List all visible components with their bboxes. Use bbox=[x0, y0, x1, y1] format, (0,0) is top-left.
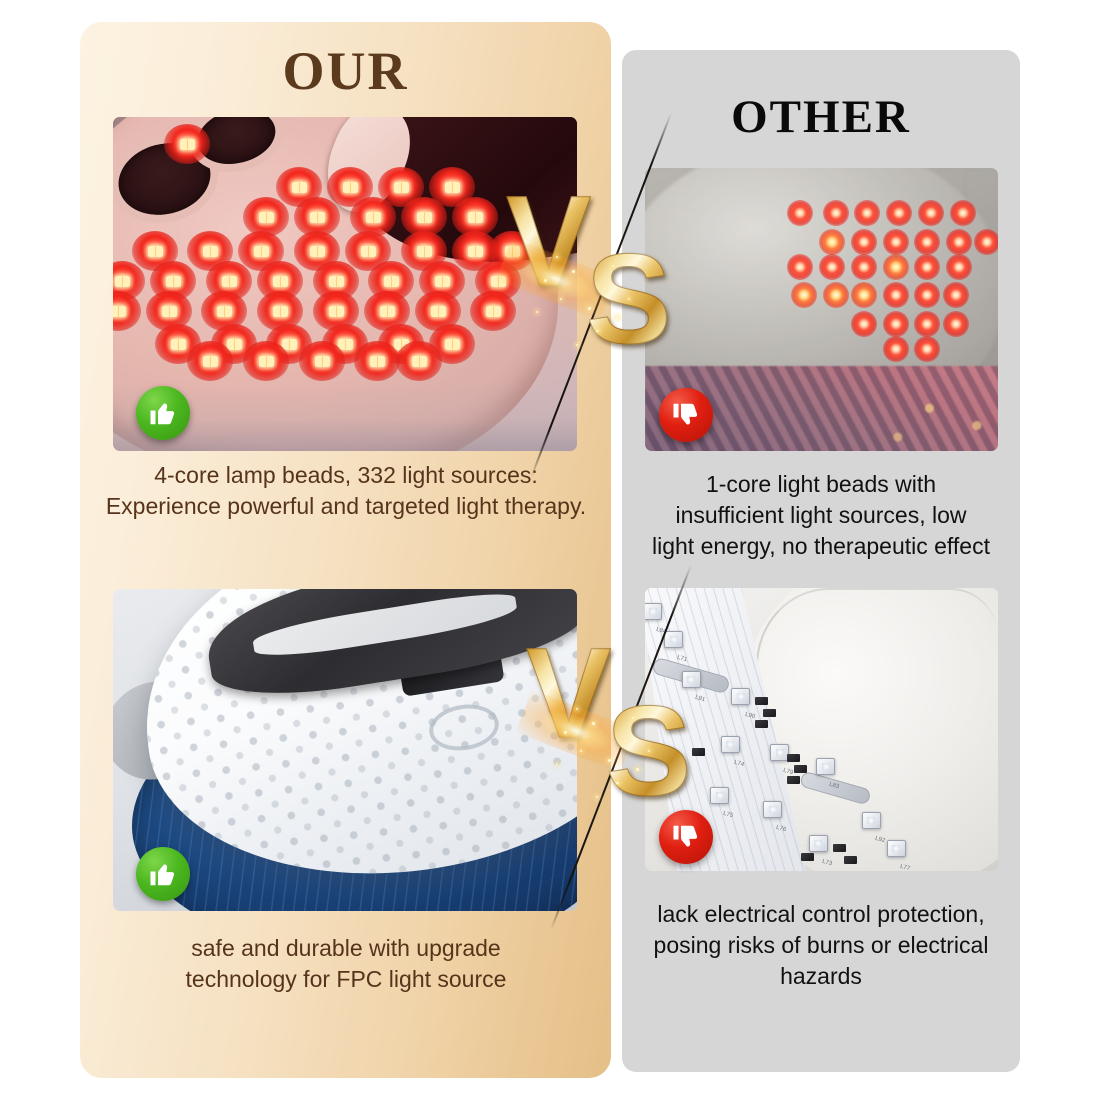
sparkle-icon bbox=[616, 782, 619, 785]
led-dot bbox=[851, 229, 877, 255]
caption-line: lack electrical control protection, bbox=[634, 899, 1008, 930]
our-caption-1: 4-core lamp beads, 332 light sources: Ex… bbox=[86, 460, 606, 522]
led-dot bbox=[791, 282, 817, 308]
smd-resistor bbox=[755, 720, 768, 728]
led-dot bbox=[819, 254, 845, 280]
caption-line: hazards bbox=[634, 961, 1008, 992]
led-bead bbox=[187, 341, 233, 381]
surface-mount-led bbox=[763, 801, 782, 818]
led-bead bbox=[113, 291, 141, 331]
surface-mount-led bbox=[682, 671, 701, 688]
other-caption-1: 1-core light beads with insufficient lig… bbox=[634, 469, 1008, 562]
sparkle-icon bbox=[616, 316, 619, 319]
led-bead bbox=[396, 341, 442, 381]
surface-mount-led bbox=[862, 812, 881, 829]
led-dot bbox=[851, 254, 877, 280]
led-dot bbox=[918, 200, 944, 226]
thumbs-down-icon bbox=[659, 810, 713, 864]
led-dot bbox=[914, 254, 940, 280]
led-dot bbox=[914, 311, 940, 337]
smd-resistor bbox=[763, 709, 776, 717]
led-dot bbox=[950, 200, 976, 226]
led-dot bbox=[914, 282, 940, 308]
led-bead bbox=[470, 291, 516, 331]
smd-resistor bbox=[692, 748, 705, 756]
caption-line: 1-core light beads with bbox=[634, 469, 1008, 500]
led-bead bbox=[354, 341, 400, 381]
thumbs-down-icon bbox=[659, 388, 713, 442]
led-dot bbox=[943, 311, 969, 337]
caption-line: 4-core lamp beads, 332 light sources: bbox=[86, 460, 606, 491]
other-caption-2: lack electrical control protection, posi… bbox=[634, 899, 1008, 992]
led-bead bbox=[299, 341, 345, 381]
led-dot bbox=[819, 229, 845, 255]
surface-mount-led bbox=[721, 736, 740, 753]
smd-resistor bbox=[801, 853, 814, 861]
led-bead bbox=[164, 124, 210, 164]
thumbs-up-icon bbox=[136, 386, 190, 440]
other-panel-title: OTHER bbox=[622, 90, 1020, 144]
led-dot bbox=[854, 200, 880, 226]
surface-mount-led bbox=[816, 758, 835, 775]
smd-resistor bbox=[794, 765, 807, 773]
sparkle-icon bbox=[612, 265, 614, 267]
smd-resistor bbox=[833, 844, 846, 852]
led-dot bbox=[946, 254, 972, 280]
led-dot bbox=[883, 336, 909, 362]
surface-mount-led bbox=[809, 835, 828, 852]
led-dot bbox=[883, 254, 909, 280]
surface-mount-led bbox=[645, 603, 662, 620]
led-dot bbox=[883, 311, 909, 337]
led-dot bbox=[974, 229, 998, 255]
comparison-infographic: OUR OTHER 4-core lamp beads, 332 light s… bbox=[0, 0, 1100, 1100]
led-bead bbox=[243, 341, 289, 381]
surface-mount-led bbox=[664, 631, 683, 648]
led-dot bbox=[823, 200, 849, 226]
led-dot bbox=[851, 311, 877, 337]
led-dot bbox=[914, 229, 940, 255]
led-dot bbox=[883, 282, 909, 308]
led-dot bbox=[787, 254, 813, 280]
led-dot bbox=[823, 282, 849, 308]
smd-resistor bbox=[787, 754, 800, 762]
surface-mount-led bbox=[710, 787, 729, 804]
smd-resistor bbox=[755, 697, 768, 705]
smd-resistor bbox=[787, 776, 800, 784]
led-dot bbox=[946, 229, 972, 255]
smd-resistor bbox=[844, 856, 857, 864]
caption-line: technology for FPC light source bbox=[86, 964, 606, 995]
led-dot bbox=[883, 229, 909, 255]
caption-line: Experience powerful and targeted light t… bbox=[86, 491, 606, 522]
our-caption-2: safe and durable with upgrade technology… bbox=[86, 933, 606, 995]
led-dot bbox=[787, 200, 813, 226]
caption-line: insufficient light sources, low bbox=[634, 500, 1008, 531]
led-dot bbox=[914, 336, 940, 362]
led-dot bbox=[851, 282, 877, 308]
caption-line: light energy, no therapeutic effect bbox=[634, 531, 1008, 562]
caption-line: posing risks of burns or electrical bbox=[634, 930, 1008, 961]
our-panel-title: OUR bbox=[80, 40, 611, 102]
thumbs-up-icon bbox=[136, 847, 190, 901]
surface-mount-led bbox=[731, 688, 750, 705]
led-dot bbox=[886, 200, 912, 226]
surface-mount-led bbox=[887, 840, 906, 857]
pcb-silkscreen-label: L77 bbox=[899, 864, 910, 871]
led-dot bbox=[943, 282, 969, 308]
caption-line: safe and durable with upgrade bbox=[86, 933, 606, 964]
